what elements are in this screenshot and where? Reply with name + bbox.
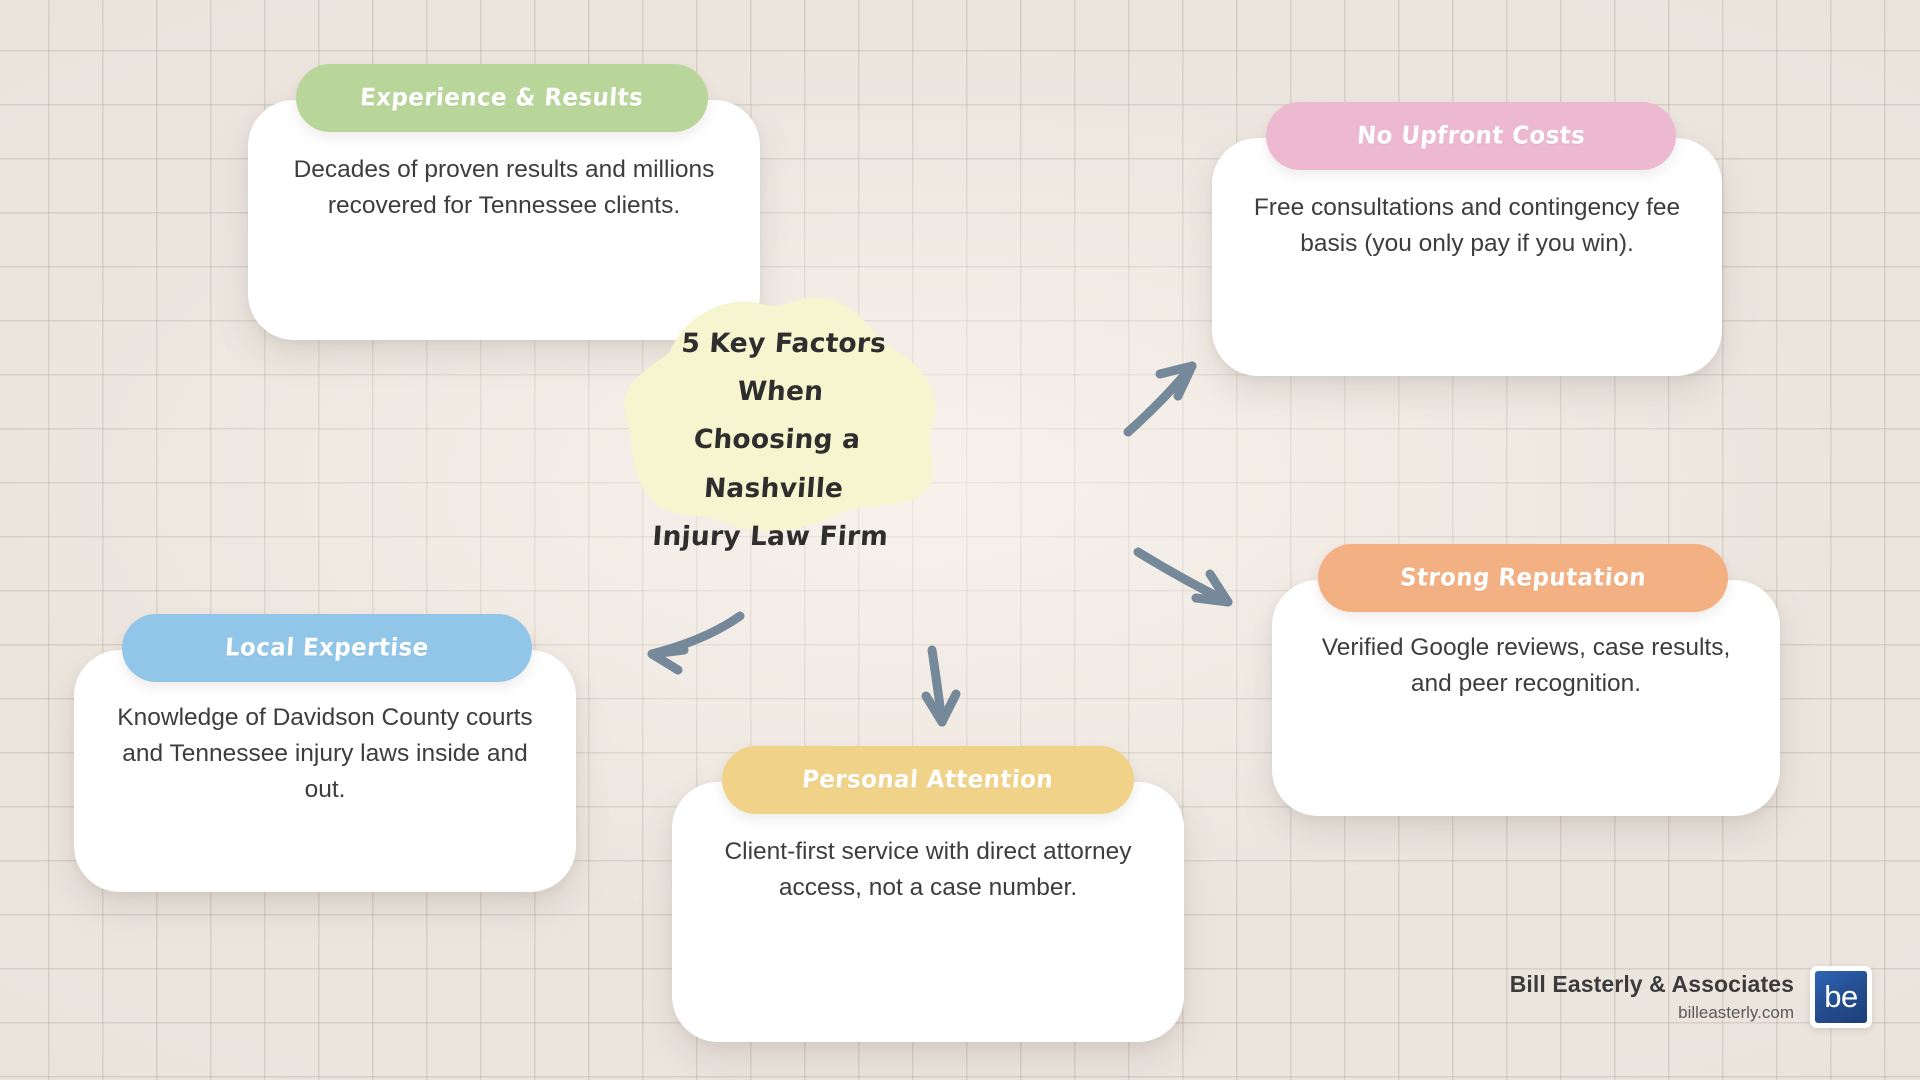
card-title: Strong Reputation [1399, 564, 1647, 592]
center-title-line-1: 5 Key Factors When [638, 320, 927, 416]
brand-logo[interactable]: be [1810, 966, 1872, 1028]
arrow-to-no-upfront-costs [1128, 366, 1192, 432]
card-strong-reputation[interactable]: Strong Reputation Verified Google review… [1272, 580, 1780, 816]
arrow-to-local-expertise [652, 616, 740, 670]
card-personal-attention[interactable]: Personal Attention Client-first service … [672, 782, 1184, 1042]
card-header-pill: Personal Attention [722, 746, 1134, 814]
card-title: No Upfront Costs [1356, 122, 1586, 150]
center-title-line-2: Choosing a Nashville [631, 416, 920, 512]
card-title: Personal Attention [801, 766, 1054, 794]
card-title: Experience & Results [360, 84, 645, 112]
card-surface [672, 782, 1184, 1042]
card-body-text: Knowledge of Davidson County courts and … [104, 700, 546, 807]
card-body-text: Decades of proven results and millions r… [282, 152, 726, 224]
card-body-text: Client-first service with direct attorne… [704, 834, 1152, 906]
center-title-line-3: Injury Law Firm [628, 513, 913, 561]
center-title: 5 Key Factors When Choosing a Nashville … [628, 320, 927, 561]
card-body-text: Verified Google reviews, case results, a… [1302, 630, 1750, 702]
arrow-to-strong-reputation [1138, 552, 1228, 602]
brand-footer: Bill Easterly & Associates billeasterly.… [1510, 966, 1872, 1028]
arrow-to-personal-attention [926, 650, 956, 722]
card-header-pill: Strong Reputation [1318, 544, 1728, 612]
infographic-canvas: Experience & Results Decades of proven r… [0, 0, 1920, 1080]
card-header-pill: Experience & Results [296, 64, 708, 132]
card-title: Local Expertise [224, 634, 430, 662]
brand-url[interactable]: billeasterly.com [1510, 1003, 1794, 1023]
card-body-text: Free consultations and contingency fee b… [1246, 190, 1688, 262]
brand-logo-text: be [1815, 971, 1867, 1023]
card-header-pill: Local Expertise [122, 614, 532, 682]
card-header-pill: No Upfront Costs [1266, 102, 1676, 170]
card-no-upfront-costs[interactable]: No Upfront Costs Free consultations and … [1212, 138, 1722, 376]
brand-text-block: Bill Easterly & Associates billeasterly.… [1510, 971, 1794, 1023]
brand-name: Bill Easterly & Associates [1510, 971, 1794, 998]
card-local-expertise[interactable]: Local Expertise Knowledge of Davidson Co… [74, 650, 576, 892]
